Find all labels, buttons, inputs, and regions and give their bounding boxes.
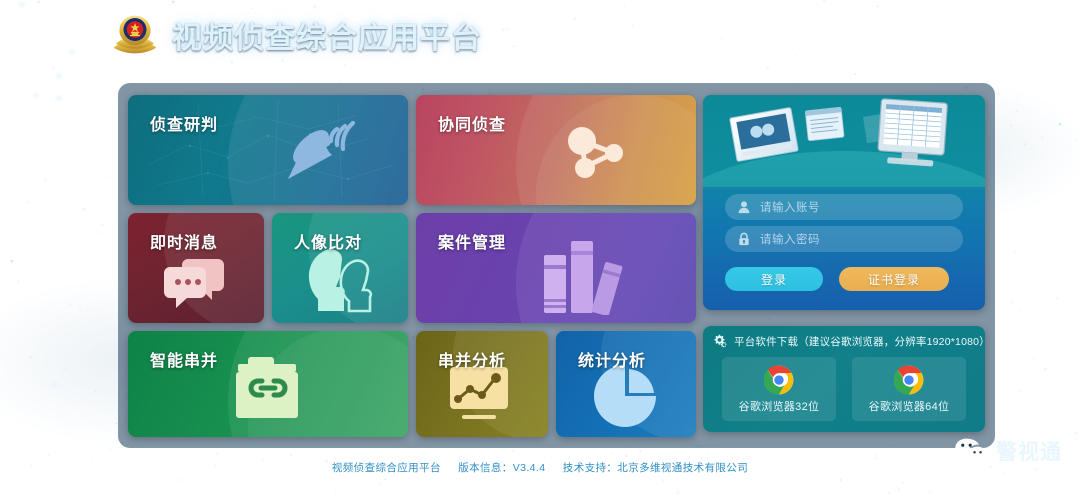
card-label: 即时消息	[150, 229, 218, 253]
satellite-dish-icon	[280, 111, 360, 191]
card-label: 智能串并	[150, 347, 218, 371]
app-header: 视频侦查综合应用平台	[112, 12, 482, 58]
card-anjian[interactable]: 案件管理	[416, 213, 696, 323]
watermark: 警视通	[954, 436, 1062, 466]
face-compare-icon	[304, 249, 378, 313]
login-illustration	[703, 95, 985, 187]
card-xietong[interactable]: 协同侦查	[416, 95, 696, 205]
gears-icon	[713, 334, 728, 349]
password-field[interactable]: 请输入密码	[725, 226, 963, 252]
card-chuanbing[interactable]: 串并分析	[416, 331, 548, 437]
footer: 视频侦查综合应用平台 版本信息：V3.4.4 技术支持：北京多维视通技术有限公司	[0, 460, 1080, 475]
account-placeholder: 请输入账号	[760, 199, 820, 215]
network-share-icon	[556, 115, 634, 187]
folder-link-icon	[226, 351, 310, 425]
user-icon	[737, 200, 751, 214]
download-tile-label: 谷歌浏览器32位	[739, 398, 820, 414]
chart-monitor-icon	[442, 365, 522, 427]
wechat-icon	[954, 437, 988, 465]
chat-bubbles-icon	[162, 253, 230, 311]
page-title: 视频侦查综合应用平台	[172, 13, 482, 57]
footer-support: 技术支持：北京多维视通技术有限公司	[563, 462, 748, 474]
card-zhineng[interactable]: 智能串并	[128, 331, 408, 437]
footer-platform: 视频侦查综合应用平台	[332, 462, 441, 474]
card-label: 人像比对	[294, 229, 362, 253]
chrome-icon	[764, 365, 794, 395]
card-label: 串并分析	[438, 347, 506, 371]
download-panel: 平台软件下载（建议谷歌浏览器，分辨率1920*1080） 谷歌浏览器32位 谷歌…	[703, 326, 985, 432]
password-placeholder: 请输入密码	[760, 231, 820, 247]
card-tongji[interactable]: 统计分析	[556, 331, 696, 437]
footer-version: 版本信息：V3.4.4	[458, 462, 545, 474]
download-chrome32-tile[interactable]: 谷歌浏览器32位	[722, 357, 836, 421]
card-jishi[interactable]: 即时消息	[128, 213, 264, 323]
books-icon	[538, 227, 624, 315]
card-label: 协同侦查	[438, 111, 506, 135]
download-chrome64-tile[interactable]: 谷歌浏览器64位	[852, 357, 966, 421]
card-renxiang[interactable]: 人像比对	[272, 213, 408, 323]
cert-login-button[interactable]: 证书登录	[839, 267, 949, 291]
chrome-icon	[894, 365, 924, 395]
watermark-label: 警视通	[996, 436, 1062, 466]
police-badge-icon	[112, 12, 158, 58]
card-label: 侦查研判	[150, 111, 218, 135]
login-panel: 请输入账号 请输入密码 登录 证书登录	[703, 95, 985, 310]
account-field[interactable]: 请输入账号	[725, 194, 963, 220]
pie-chart-icon	[592, 363, 662, 429]
card-label: 案件管理	[438, 229, 506, 253]
download-tile-label: 谷歌浏览器64位	[869, 398, 950, 414]
card-label: 统计分析	[578, 347, 646, 371]
lock-icon	[737, 232, 751, 246]
download-title: 平台软件下载（建议谷歌浏览器，分辨率1920*1080）	[734, 334, 985, 349]
login-button[interactable]: 登录	[725, 267, 823, 291]
card-zhencha[interactable]: 侦查研判	[128, 95, 408, 205]
download-header: 平台软件下载（建议谷歌浏览器，分辨率1920*1080）	[713, 334, 985, 349]
